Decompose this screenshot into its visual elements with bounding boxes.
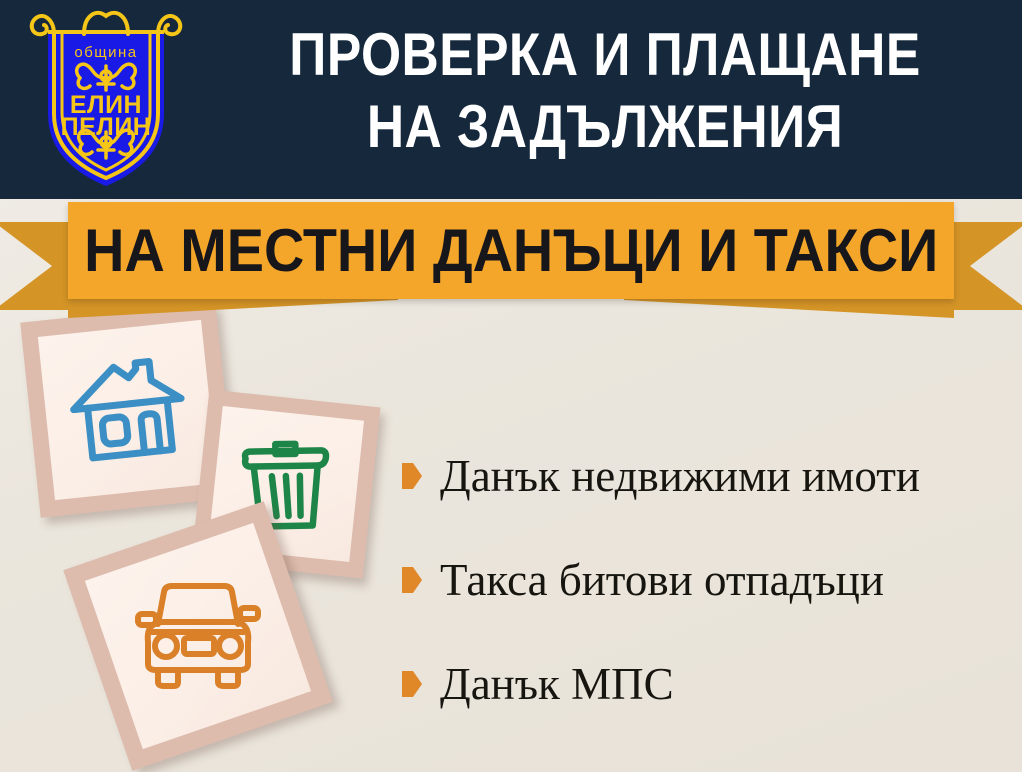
page-title: ПРОВЕРКА И ПЛАЩАНЕ НА ЗАДЪЛЖЕНИЯ: [257, 19, 954, 163]
list-item[interactable]: Такса битови отпадъци: [402, 528, 1012, 632]
list-item[interactable]: Данък недвижими имоти: [402, 424, 1012, 528]
logo-line-pelin: ПЕЛИН: [61, 113, 152, 141]
ribbon-label: НА МЕСТНИ ДАНЪЦИ И ТАКСИ: [84, 220, 938, 282]
tax-label-vehicle: Данък МПС: [440, 659, 674, 709]
house-icon: [63, 350, 194, 470]
header-bar: община ЕЛИН ПЕЛИН ПРОВЕРКА И ПЛАЩАНЕ НА …: [0, 0, 1022, 199]
arrow-bullet-icon: [402, 671, 422, 697]
tax-label-property: Данък недвижими имоти: [440, 451, 920, 501]
tax-type-list: Данък недвижими имоти Такса битови отпад…: [402, 424, 1012, 736]
page-title-line-1: ПРОВЕРКА И ПЛАЩАНЕ: [257, 19, 954, 91]
arrow-bullet-icon: [402, 567, 422, 593]
ribbon-fold-right: [624, 296, 954, 318]
page-title-line-2: НА ЗАДЪЛЖЕНИЯ: [257, 91, 954, 163]
coat-of-arms-icon: община ЕЛИН ПЕЛИН: [22, 4, 190, 194]
car-front-icon: [132, 578, 264, 694]
municipality-logo: община ЕЛИН ПЕЛИН: [22, 4, 190, 194]
tax-label-waste: Такса битови отпадъци: [440, 555, 884, 605]
poster-canvas: община ЕЛИН ПЕЛИН ПРОВЕРКА И ПЛАЩАНЕ НА …: [0, 0, 1022, 772]
logo-line-obshtina: община: [74, 44, 137, 61]
arrow-bullet-icon: [402, 463, 422, 489]
subtitle-ribbon: НА МЕСТНИ ДАНЪЦИ И ТАКСИ: [0, 198, 1022, 310]
list-item[interactable]: Данък МПС: [402, 632, 1012, 736]
ribbon-fold-left: [68, 296, 398, 318]
ribbon-banner: НА МЕСТНИ ДАНЪЦИ И ТАКСИ: [68, 202, 954, 299]
